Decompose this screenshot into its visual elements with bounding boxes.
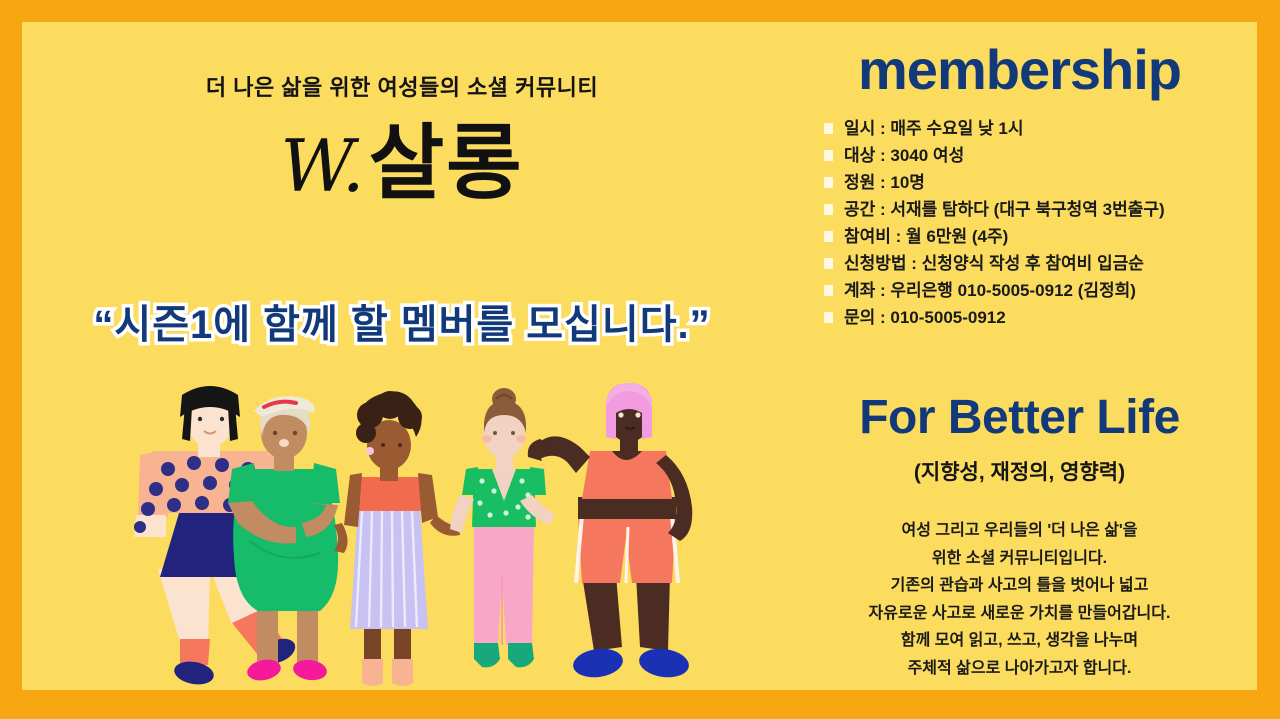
- list-item-text: 계좌 : 우리은행 010-5005-0912 (김정희): [844, 282, 1136, 299]
- list-item-text: 공간 : 서재를 탐하다 (대구 북구청역 3번출구): [844, 201, 1165, 218]
- list-item-text: 일시 : 매주 수요일 낮 1시: [844, 120, 1024, 137]
- list-item-text: 참여비 : 월 6만원 (4주): [844, 228, 1008, 245]
- figure-striped-skirt: [334, 391, 460, 686]
- bullet-square-icon: [824, 231, 833, 242]
- list-item: 계좌 : 우리은행 010-5005-0912 (김정희): [824, 282, 1244, 299]
- slogan: “시즌1에 함께 할 멤버를 모십니다.”: [22, 292, 782, 350]
- list-item-text: 정원 : 10명: [844, 174, 925, 191]
- brand-logo-w: W.: [280, 124, 364, 208]
- description-line: 위한 소셜 커뮤니티입니다.: [782, 545, 1257, 573]
- description-line: 자유로운 사고로 새로운 가치를 만들어갑니다.: [782, 600, 1257, 628]
- list-item: 신청방법 : 신청양식 작성 후 참여비 입금순: [824, 255, 1244, 272]
- list-item: 일시 : 매주 수요일 낮 1시: [824, 120, 1244, 137]
- tagline: 더 나은 삶을 위한 여성들의 소셜 커뮤니티: [22, 70, 782, 102]
- list-item-text: 대상 : 3040 여성: [844, 147, 964, 164]
- description-line: 주체적 삶으로 나아가고자 합니다.: [782, 655, 1257, 683]
- list-item-text: 문의 : 010-5005-0912: [844, 309, 1006, 326]
- right-column: membership 일시 : 매주 수요일 낮 1시 대상 : 3040 여성…: [782, 22, 1257, 690]
- membership-title: membership: [782, 42, 1257, 98]
- list-item: 정원 : 10명: [824, 174, 1244, 191]
- for-better-life-subheading: (지향성, 재정의, 영향력): [782, 456, 1257, 486]
- membership-detail-list: 일시 : 매주 수요일 낮 1시 대상 : 3040 여성 정원 : 10명 공…: [824, 120, 1244, 336]
- description-line: 함께 모여 읽고, 쓰고, 생각을 나누며: [782, 627, 1257, 655]
- figure-pink-pants: [450, 388, 554, 667]
- poster-inner-panel: 더 나은 삶을 위한 여성들의 소셜 커뮤니티 W.살롱 “시즌1에 함께 할 …: [22, 22, 1257, 690]
- description-paragraph: 여성 그리고 우리들의 '더 나은 삶'을 위한 소셜 커뮤니티입니다. 기존의…: [782, 517, 1257, 682]
- list-item: 공간 : 서재를 탐하다 (대구 북구청역 3번출구): [824, 201, 1244, 218]
- bullet-square-icon: [824, 312, 833, 323]
- women-illustration: [82, 377, 742, 690]
- list-item: 대상 : 3040 여성: [824, 147, 1244, 164]
- bullet-square-icon: [824, 258, 833, 269]
- list-item: 문의 : 010-5005-0912: [824, 309, 1244, 326]
- bullet-square-icon: [824, 150, 833, 161]
- brand-logo: W.살롱: [22, 117, 782, 211]
- bullet-square-icon: [824, 285, 833, 296]
- for-better-life-heading: For Better Life: [782, 394, 1257, 442]
- bullet-square-icon: [824, 204, 833, 215]
- poster-root: 더 나은 삶을 위한 여성들의 소셜 커뮤니티 W.살롱 “시즌1에 함께 할 …: [0, 0, 1280, 719]
- brand-logo-korean: 살롱: [369, 118, 524, 209]
- description-line: 기존의 관습과 사고의 틀을 벗어나 넓고: [782, 572, 1257, 600]
- figure-sportswear: [528, 383, 693, 680]
- left-column: 더 나은 삶을 위한 여성들의 소셜 커뮤니티 W.살롱 “시즌1에 함께 할 …: [22, 22, 782, 690]
- bullet-square-icon: [824, 177, 833, 188]
- bullet-square-icon: [824, 123, 833, 134]
- list-item: 참여비 : 월 6만원 (4주): [824, 228, 1244, 245]
- description-line: 여성 그리고 우리들의 '더 나은 삶'을: [782, 517, 1257, 545]
- list-item-text: 신청방법 : 신청양식 작성 후 참여비 입금순: [844, 255, 1144, 272]
